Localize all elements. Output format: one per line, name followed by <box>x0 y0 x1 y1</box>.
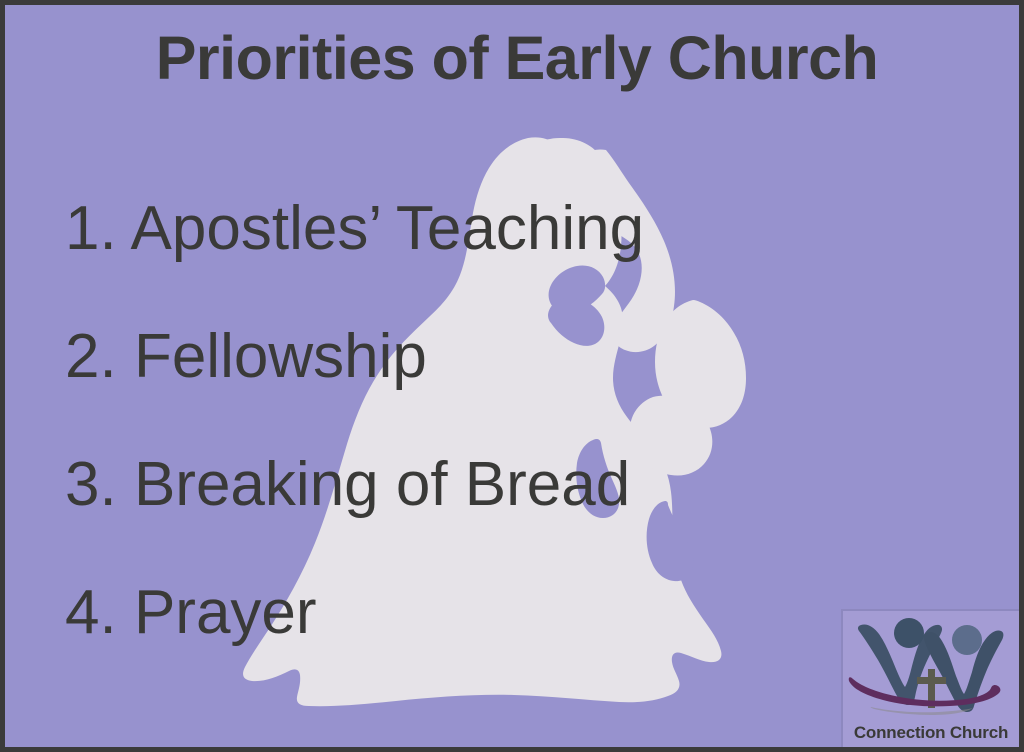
page-title: Priorities of Early Church <box>5 23 1024 93</box>
list-item: 2. Fellowship <box>65 293 965 421</box>
logo-wordmark: Connection Church <box>843 723 1019 743</box>
list-item-label: Fellowship <box>134 322 427 391</box>
logo-figure-right-head <box>952 625 982 655</box>
list-item: 1. Apostles’ Teaching <box>65 165 965 293</box>
priority-list: 1. Apostles’ Teaching 2. Fellowship 3. B… <box>65 165 965 677</box>
list-item-label: Prayer <box>134 578 317 647</box>
slide-canvas: Priorities of Early Church 1. Apostles’ … <box>0 0 1024 752</box>
list-item-number: 2. <box>65 322 117 391</box>
logo-figure-left-head <box>894 618 924 648</box>
list-item-label: Apostles’ Teaching <box>131 194 645 263</box>
list-item-number: 3. <box>65 450 117 519</box>
connection-church-logo: Connection Church <box>841 609 1021 749</box>
list-item: 3. Breaking of Bread <box>65 421 965 549</box>
connection-church-logo-icon <box>843 611 1019 715</box>
list-item-number: 1. <box>65 194 117 263</box>
list-item-number: 4. <box>65 578 117 647</box>
list-item-label: Breaking of Bread <box>134 450 630 519</box>
list-item: 4. Prayer <box>65 549 965 677</box>
